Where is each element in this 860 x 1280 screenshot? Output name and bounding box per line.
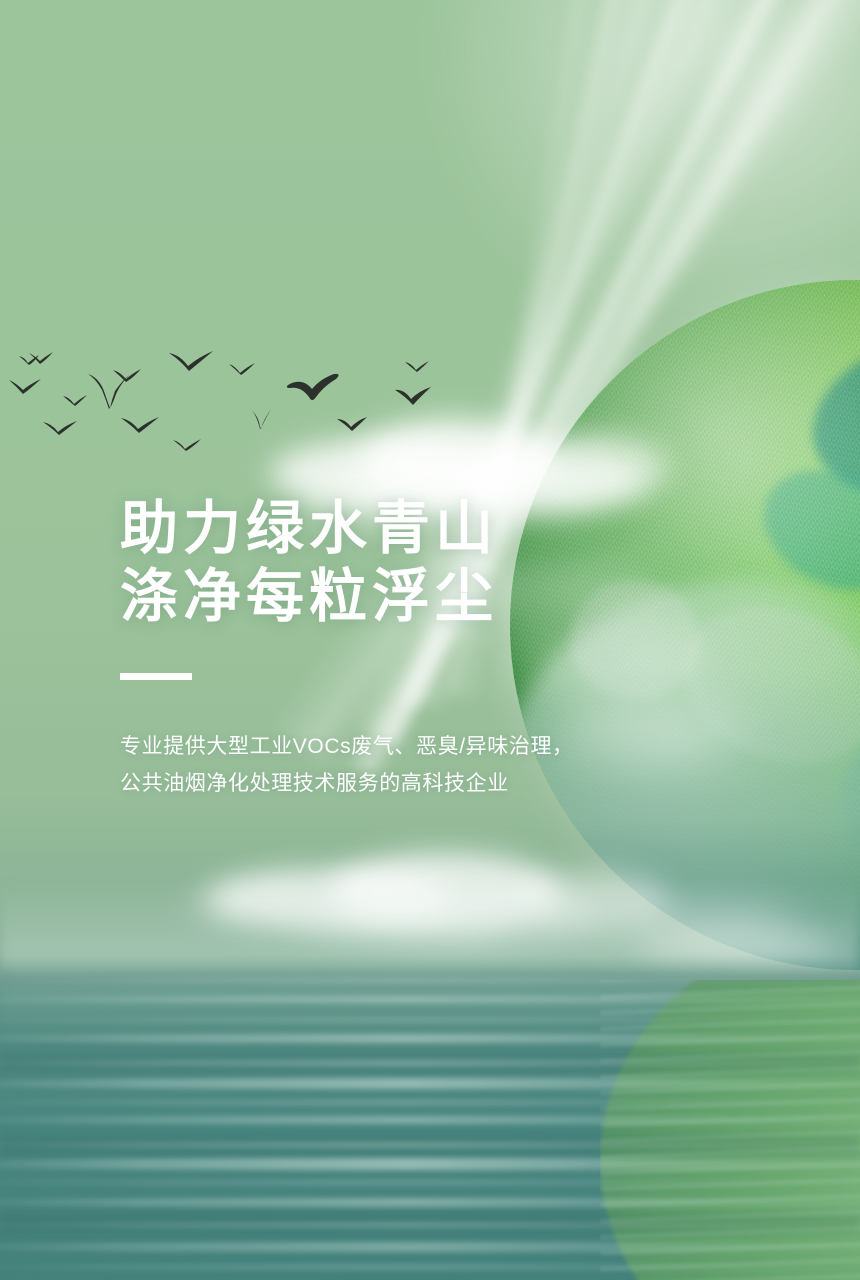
water-ripple-line bbox=[0, 1034, 860, 1043]
water-ripple-line bbox=[0, 1264, 860, 1270]
water-ripple-line bbox=[0, 1100, 860, 1105]
water-ripple-line bbox=[0, 1222, 860, 1228]
subtitle-line-1: 专业提供大型工业VOCs废气、恶臭/异味治理， bbox=[120, 729, 680, 766]
water-ripples bbox=[0, 960, 860, 1280]
water-ripple-line bbox=[0, 1242, 860, 1252]
water-ripple-line bbox=[0, 1018, 860, 1022]
headline: 助力绿水青山 涤净每粒浮尘 bbox=[120, 495, 680, 632]
headline-line-2: 涤净每粒浮尘 bbox=[120, 563, 680, 631]
water-ripple-line bbox=[0, 1180, 860, 1185]
headline-line-1: 助力绿水青山 bbox=[120, 495, 680, 563]
subtitle: 专业提供大型工业VOCs废气、恶臭/异味治理， 公共油烟净化处理技术服务的高科技… bbox=[120, 729, 680, 803]
water-ripple-line bbox=[0, 1198, 860, 1207]
water-ripple-line bbox=[0, 1078, 860, 1089]
water-ripple-line bbox=[0, 1060, 860, 1066]
hero-text-block: 助力绿水青山 涤净每粒浮尘 专业提供大型工业VOCs废气、恶臭/异味治理， 公共… bbox=[120, 495, 680, 802]
water-ripple-line bbox=[0, 1158, 860, 1170]
subtitle-line-2: 公共油烟净化处理技术服务的高科技企业 bbox=[120, 766, 680, 803]
poster-canvas: 助力绿水青山 涤净每粒浮尘 专业提供大型工业VOCs废气、恶臭/异味治理， 公共… bbox=[0, 0, 860, 1280]
water-ripple-line bbox=[0, 1142, 860, 1148]
headline-divider bbox=[120, 673, 192, 680]
water-ripple-line bbox=[0, 996, 860, 1003]
water-ripple-line bbox=[0, 1116, 860, 1124]
water-ripple-line bbox=[0, 978, 860, 983]
